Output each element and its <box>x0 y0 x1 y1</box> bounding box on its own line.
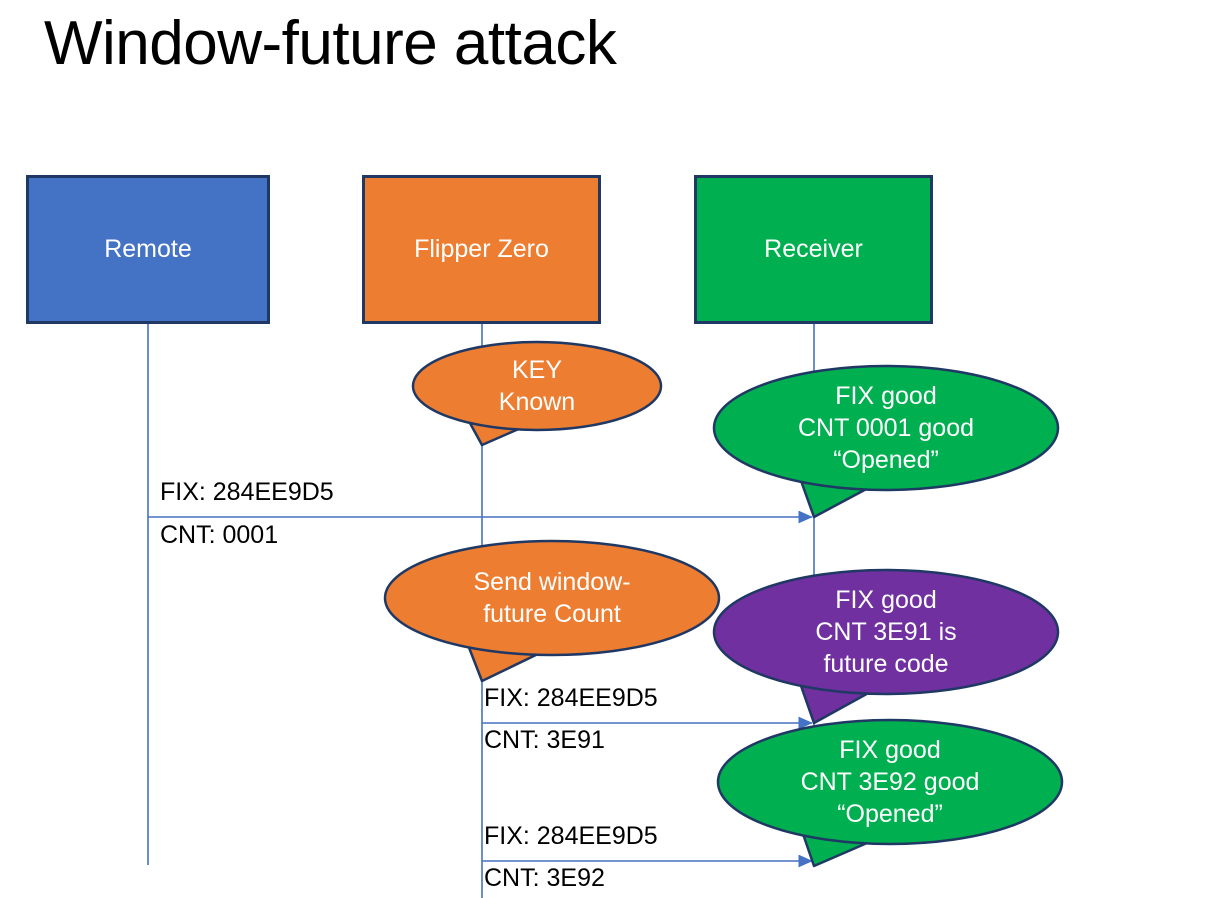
callout-send-window-future-text: Send window-future Count <box>385 566 719 630</box>
page-title: Window-future attack <box>44 8 616 79</box>
callout-receiver-future-3E91: FIX goodCNT 3E91 isfuture code <box>714 570 1058 694</box>
message-label-cnt-1: CNT: 0001 <box>160 521 278 550</box>
message-label-cnt-3: CNT: 3E92 <box>484 864 605 893</box>
actor-box-remote[interactable]: Remote <box>26 175 270 324</box>
callout-key-known: KEYKnown <box>413 342 661 430</box>
actor-label-flipper: Flipper Zero <box>414 236 549 264</box>
callout-receiver-ack-0001: FIX goodCNT 0001 good“Opened” <box>714 366 1058 490</box>
lifelines-group <box>148 324 814 898</box>
callout-key-known-text: KEYKnown <box>413 354 661 418</box>
message-arrows-group <box>148 517 812 861</box>
message-label-fix-2: FIX: 284EE9D5 <box>484 684 658 713</box>
message-label-fix-1: FIX: 284EE9D5 <box>160 478 334 507</box>
callout-receiver-ack-3E92-text: FIX goodCNT 3E92 good“Opened” <box>718 734 1062 830</box>
message-label-cnt-2: CNT: 3E91 <box>484 726 605 755</box>
callout-receiver-future-3E91-text: FIX goodCNT 3E91 isfuture code <box>714 584 1058 680</box>
callout-receiver-ack-0001-text: FIX goodCNT 0001 good“Opened” <box>714 380 1058 476</box>
actor-label-remote: Remote <box>104 236 192 264</box>
sequence-diagram-graphics <box>0 0 1216 898</box>
actor-box-flipper[interactable]: Flipper Zero <box>362 175 601 324</box>
slide-canvas: Window-future attack Remote Flipper Zero… <box>0 0 1216 898</box>
actor-label-receiver: Receiver <box>764 236 863 264</box>
actor-box-receiver[interactable]: Receiver <box>694 175 933 324</box>
bubble-tails-group <box>385 342 1062 866</box>
message-label-fix-3: FIX: 284EE9D5 <box>484 822 658 851</box>
callout-receiver-ack-3E92: FIX goodCNT 3E92 good“Opened” <box>718 720 1062 844</box>
callout-send-window-future: Send window-future Count <box>385 541 719 655</box>
